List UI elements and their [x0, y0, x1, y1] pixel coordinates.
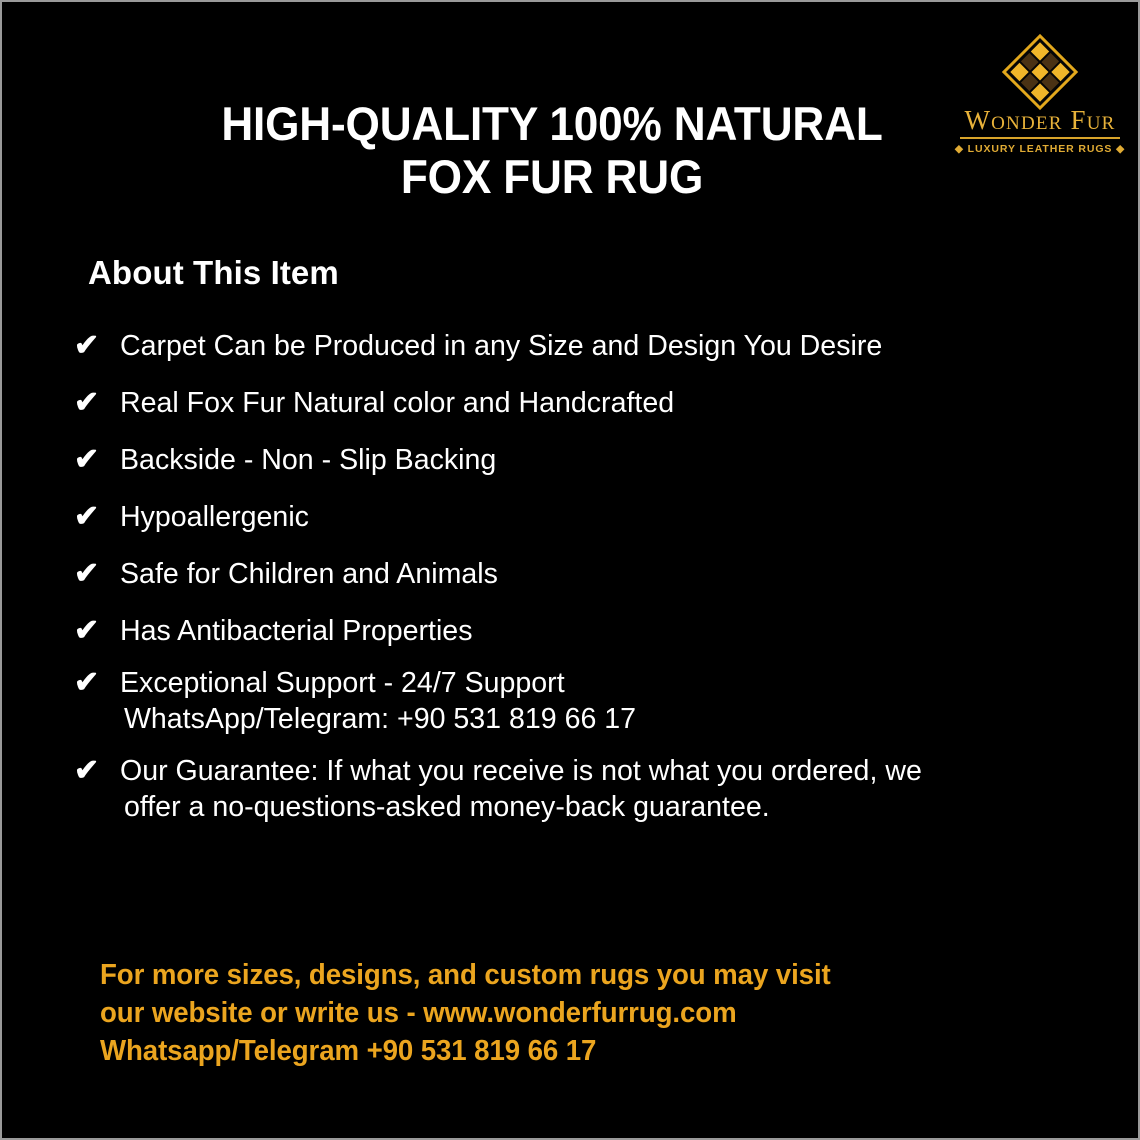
list-item-label: Has Antibacterial Properties — [120, 614, 1050, 650]
list-item: ✔ Safe for Children and Animals — [74, 557, 1064, 593]
list-item-label: Real Fox Fur Natural color and Handcraft… — [120, 386, 1050, 422]
check-icon: ✔ — [74, 443, 120, 475]
feature-list: ✔ Carpet Can be Produced in any Size and… — [74, 329, 1064, 847]
check-icon: ✔ — [74, 666, 120, 698]
list-item-label: Exceptional Support - 24/7 Support Whats… — [120, 666, 1050, 738]
brand-name: Wonder Fur — [950, 106, 1130, 134]
check-icon: ✔ — [74, 754, 120, 786]
list-item-label: Backside - Non - Slip Backing — [120, 443, 1050, 479]
check-icon: ✔ — [74, 329, 120, 361]
guarantee-line-2: offer a no-questions-asked money-back gu… — [120, 790, 1050, 826]
page-title: HIGH-QUALITY 100% NATURAL FOX FUR RUG — [176, 98, 928, 203]
check-icon: ✔ — [74, 614, 120, 646]
list-item-guarantee: ✔ Our Guarantee: If what you receive is … — [74, 754, 1064, 826]
check-icon: ✔ — [74, 500, 120, 532]
list-item-label: Safe for Children and Animals — [120, 557, 1050, 593]
list-item: ✔ Backside - Non - Slip Backing — [74, 443, 1064, 479]
list-item: ✔ Real Fox Fur Natural color and Handcra… — [74, 386, 1064, 422]
footer-contact-block: For more sizes, designs, and custom rugs… — [100, 957, 831, 1071]
page-title-line-2: FOX FUR RUG — [176, 151, 928, 204]
guarantee-line-1: Our Guarantee: If what you receive is no… — [120, 755, 922, 787]
list-item: ✔ Hypoallergenic — [74, 500, 1064, 536]
check-icon: ✔ — [74, 557, 120, 589]
brand-logo: Wonder Fur ◆ LUXURY LEATHER RUGS ◆ — [950, 36, 1130, 155]
list-item-label: Carpet Can be Produced in any Size and D… — [120, 329, 1050, 365]
list-item: ✔ Has Antibacterial Properties — [74, 614, 1064, 650]
list-item-label: Hypoallergenic — [120, 500, 1050, 536]
support-contact: WhatsApp/Telegram: +90 531 819 66 17 — [120, 702, 1050, 738]
footer-whatsapp-line: Whatsapp/Telegram +90 531 819 66 17 — [100, 1033, 831, 1071]
list-item-support: ✔ Exceptional Support - 24/7 Support Wha… — [74, 666, 1064, 738]
page-title-line-1: HIGH-QUALITY 100% NATURAL — [176, 98, 928, 151]
check-icon: ✔ — [74, 386, 120, 418]
footer-website-line: our website or write us - www.wonderfurr… — [100, 995, 831, 1033]
product-info-card: Wonder Fur ◆ LUXURY LEATHER RUGS ◆ HIGH-… — [0, 0, 1140, 1140]
section-heading-about-this-item: About This Item — [88, 254, 339, 292]
brand-tagline: ◆ LUXURY LEATHER RUGS ◆ — [950, 143, 1130, 155]
list-item-label: Our Guarantee: If what you receive is no… — [120, 754, 1050, 826]
list-item: ✔ Carpet Can be Produced in any Size and… — [74, 329, 1064, 365]
logo-divider — [960, 137, 1120, 139]
support-line-1: Exceptional Support - 24/7 Support — [120, 667, 565, 699]
logo-diamond-icon — [950, 36, 1130, 108]
footer-line-1: For more sizes, designs, and custom rugs… — [100, 957, 831, 995]
